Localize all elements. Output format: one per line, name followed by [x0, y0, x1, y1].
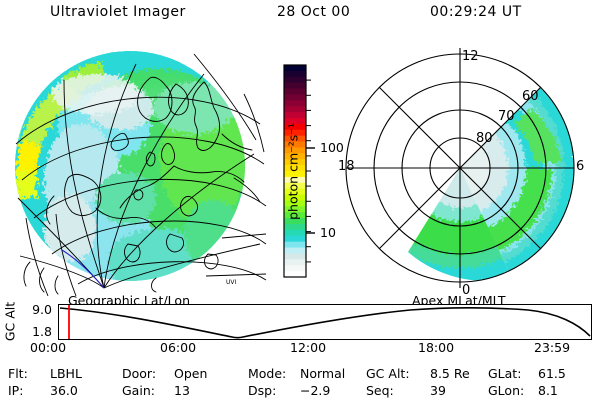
geographic-globe-svg: UVI [8, 48, 266, 296]
status-value: −2.9 [300, 383, 330, 398]
panel-corner-mark: UVI [226, 279, 236, 286]
colorbar-tick-label-10: 10 [320, 225, 336, 240]
polar-dial-panel[interactable]: 80 70 60 12 18 6 0 [336, 46, 594, 298]
status-label: GC Alt: [366, 366, 410, 381]
colorbar-swatch [284, 265, 306, 271]
status-label: Flt: [8, 366, 28, 381]
status-block: Flt:LBHLDoor:OpenMode:NormalGC Alt:8.5 R… [0, 366, 600, 400]
altitude-y-tick-low: 1.8 [20, 324, 52, 339]
colorbar-swatch [284, 77, 306, 83]
colorbar-swatch [284, 71, 306, 77]
status-value: 8.5 Re [430, 366, 470, 381]
observation-date: 28 Oct 00 [277, 4, 350, 20]
altitude-x-tick-3: 18:00 [418, 340, 454, 355]
altitude-x-tick-2: 12:00 [290, 340, 326, 355]
altitude-x-tick-1: 06:00 [160, 340, 196, 355]
colorbar-swatch [284, 253, 306, 259]
colorbar-minor-ticks [306, 80, 311, 262]
mlt-label-6: 6 [576, 159, 584, 174]
status-label: GLon: [488, 383, 524, 398]
colorbar-swatch [284, 248, 306, 254]
colorbar-swatch [284, 83, 306, 89]
mlat-label-60: 60 [522, 89, 539, 104]
mlt-label-18: 18 [338, 159, 355, 174]
status-value: 61.5 [538, 366, 566, 381]
altitude-timeline-panel[interactable]: GC Alt 9.0 1.8 00:00 06:00 12:00 18:00 2… [0, 300, 600, 356]
status-value: Open [174, 366, 207, 381]
status-label: Door: [122, 366, 156, 381]
altitude-trace-svg [58, 304, 592, 340]
status-label: Seq: [366, 383, 394, 398]
colorbar-axis-label: photon cm⁻²s⁻¹ [286, 97, 301, 247]
altitude-y-tick-high: 9.0 [20, 302, 52, 317]
status-label: Gain: [122, 383, 155, 398]
status-value: 36.0 [50, 383, 78, 398]
status-value: 8.1 [538, 383, 558, 398]
status-value: 39 [430, 383, 446, 398]
status-value: LBHL [50, 366, 82, 381]
aurora-emission-layer [14, 50, 248, 296]
mlat-label-80: 80 [476, 131, 493, 146]
colorbar-swatch [284, 259, 306, 265]
colorbar-svg [262, 60, 342, 300]
altitude-x-tick-4: 23:59 [534, 340, 570, 355]
status-value: Normal [300, 366, 345, 381]
status-value: 13 [174, 383, 190, 398]
status-label: GLat: [488, 366, 521, 381]
colorbar-swatch [284, 89, 306, 95]
colorbar-major-ticks [306, 148, 315, 233]
mlt-spokes [346, 48, 574, 288]
status-label: IP: [8, 383, 23, 398]
status-label: Dsp: [248, 383, 276, 398]
header-bar: Ultraviolet Imager 28 Oct 00 00:29:24 UT [0, 4, 600, 26]
mlt-label-12: 12 [462, 49, 479, 64]
polar-dial-svg: 80 70 60 12 18 6 0 [336, 46, 594, 298]
status-label: Mode: [248, 366, 286, 381]
page-title: Ultraviolet Imager [50, 4, 186, 20]
geographic-image-panel[interactable]: UVI [8, 48, 266, 296]
altitude-y-axis-label: GC Alt [3, 296, 18, 348]
altitude-x-tick-0: 00:00 [30, 340, 66, 355]
colorbar-swatch [284, 65, 306, 71]
mlat-label-70: 70 [498, 109, 515, 124]
colorbar-panel: photon cm⁻²s⁻¹ 100 10 [262, 60, 342, 300]
observation-time: 00:29:24 UT [430, 4, 522, 20]
